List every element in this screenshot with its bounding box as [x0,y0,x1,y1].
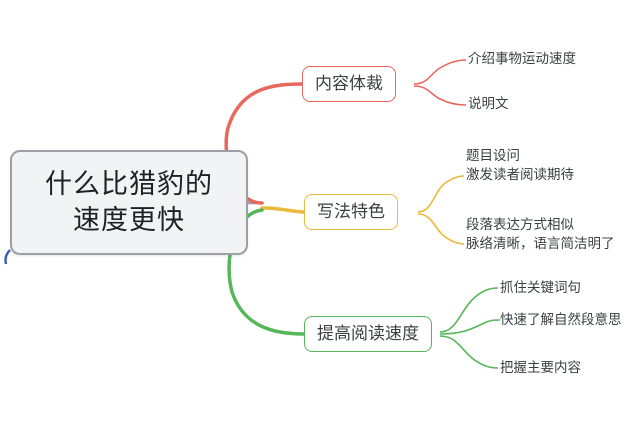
connector-branch-1-leaf-2 [414,86,466,105]
connector-branch-2-leaf-1 [418,176,464,212]
leaf-node-label: 抓住关键词句 [500,279,581,298]
leaf-node-2-2[interactable]: 段落表达方式相似 脉络清晰，语言简洁明了 [466,215,640,255]
connector-branch-1-leaf-1 [414,60,466,84]
leaf-node-label: 说明文 [468,95,509,114]
branch-node-writing-style[interactable]: 写法特色 [304,194,398,230]
connector-branch-3-leaf-3 [440,336,498,368]
leaf-node-2-1[interactable]: 题目设问 激发读者阅读期待 [466,146,638,186]
leaf-node-label: 段落表达方式相似 脉络清晰，语言简洁明了 [466,216,615,254]
connector-branch-3-leaf-1 [440,288,498,332]
branch-node-reading-speed[interactable]: 提高阅读速度 [304,316,432,352]
leaf-node-3-3[interactable]: 把握主要内容 [500,357,638,379]
connector-root-to-branch-2 [262,208,304,212]
mindmap-canvas: 什么比猎豹的 速度更快 内容体裁 介绍事物运动速度 说明文 写法特色 题目设问 … [0,0,640,436]
branch-node-label: 内容体裁 [315,73,383,95]
leaf-node-label: 题目设问 激发读者阅读期待 [466,147,574,185]
leaf-node-1-1[interactable]: 介绍事物运动速度 [468,48,638,70]
leaf-node-1-2[interactable]: 说明文 [468,93,638,115]
leaf-node-3-2[interactable]: 快速了解自然段意思 [500,309,638,331]
root-node[interactable]: 什么比猎豹的 速度更快 [10,150,248,255]
branch-node-label: 写法特色 [317,201,385,223]
leaf-node-label: 快速了解自然段意思 [500,311,622,330]
leaf-node-label: 介绍事物运动速度 [468,50,576,69]
root-node-label: 什么比猎豹的 速度更快 [45,167,213,239]
connector-branch-2-leaf-2 [418,214,464,244]
connector-root-accent [6,250,11,264]
branch-node-label: 提高阅读速度 [317,323,419,345]
connector-branch-3-leaf-2 [440,320,500,334]
leaf-node-3-1[interactable]: 抓住关键词句 [500,277,638,299]
branch-node-content-genre[interactable]: 内容体裁 [302,66,396,102]
leaf-node-label: 把握主要内容 [500,359,581,378]
